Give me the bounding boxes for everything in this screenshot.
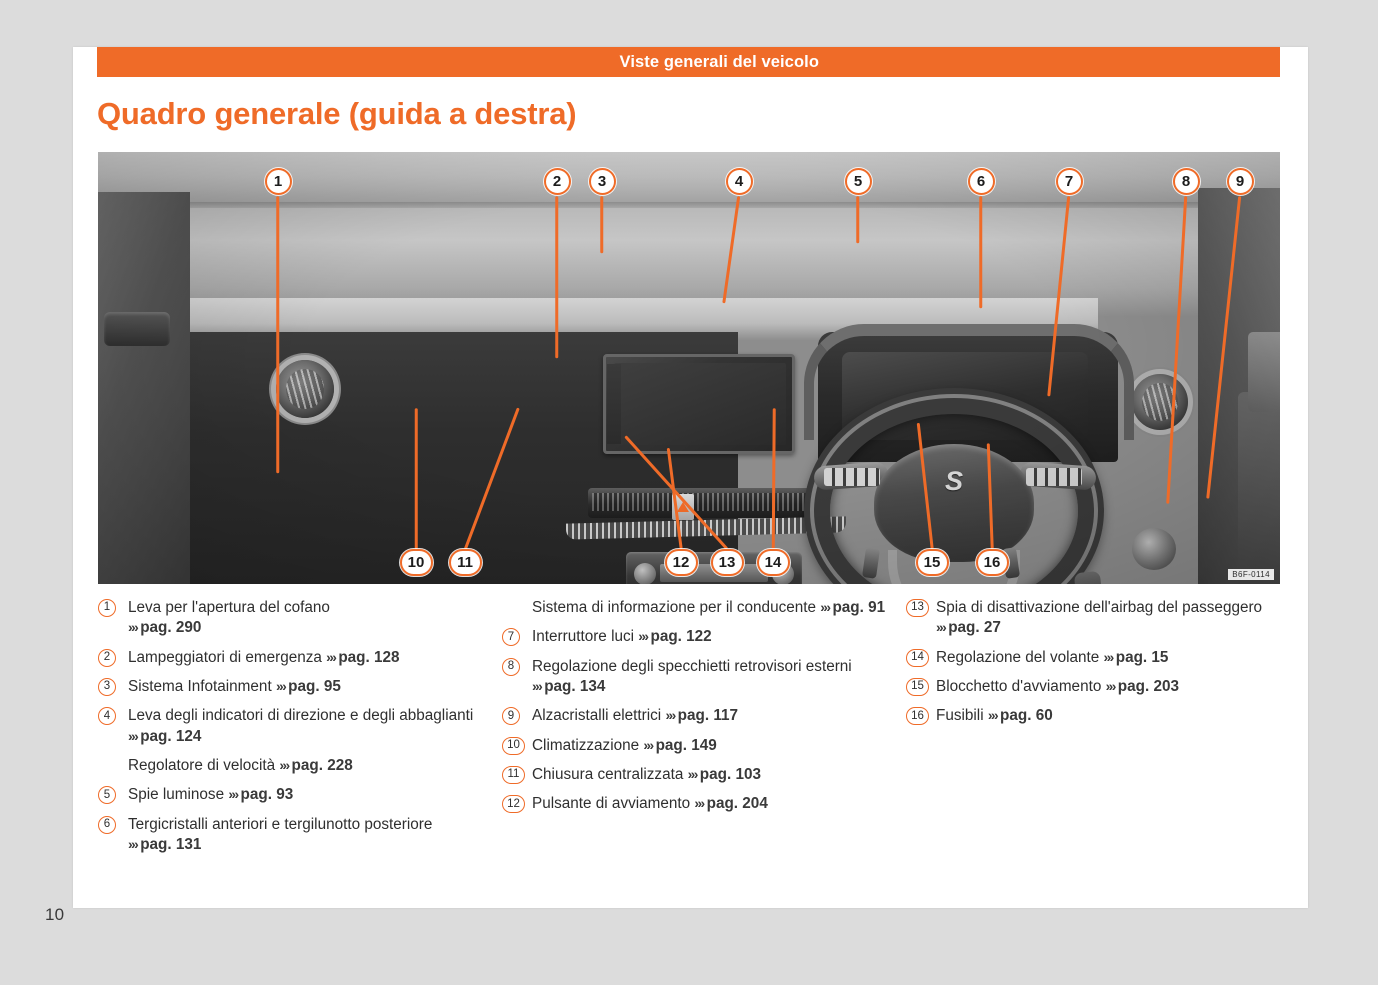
legend-text: Climatizzazione (532, 737, 643, 754)
figure-code: B6F-0114 (1228, 569, 1274, 580)
photo-vignette (98, 152, 1280, 584)
legend-text: Fusibili (936, 707, 988, 724)
callout-6[interactable]: 6 (968, 168, 995, 195)
callout-5[interactable]: 5 (845, 168, 872, 195)
legend-text: Tergicristalli anteriori e tergilunotto … (128, 816, 432, 833)
callout-13[interactable]: 13 (711, 549, 744, 576)
legend-item-13: 13Spia di disattivazione dell'airbag del… (906, 598, 1280, 639)
legend-text: Leva degli indicatori di direzione e deg… (128, 707, 473, 724)
dashboard-figure: S B6F-0114 12345 (98, 152, 1280, 584)
cross-reference-arrows-icon: ››› (532, 678, 544, 694)
legend-text: Interruttore luci (532, 628, 638, 645)
cross-reference-arrows-icon: ››› (820, 599, 832, 615)
callout-10[interactable]: 10 (400, 549, 433, 576)
legend-number-7: 7 (502, 628, 520, 646)
cross-reference-page[interactable]: pag. 131 (140, 836, 201, 853)
cross-reference-page[interactable]: pag. 203 (1118, 678, 1179, 695)
legend-number-5: 5 (98, 786, 116, 804)
legend-text: Spia di disattivazione dell'airbag del p… (936, 599, 1262, 616)
cross-reference-arrows-icon: ››› (643, 737, 655, 753)
legend-text: Leva per l'apertura del cofano (128, 599, 330, 616)
cross-reference-arrows-icon: ››› (279, 757, 291, 773)
cross-reference-page[interactable]: pag. 91 (832, 599, 885, 616)
legend-item-9: 9Alzacristalli elettrici ›››pag. 117 (502, 706, 892, 726)
callout-3[interactable]: 3 (589, 168, 616, 195)
cross-reference-arrows-icon: ››› (638, 628, 650, 644)
legend-number-13: 13 (906, 599, 929, 617)
legend-number-15: 15 (906, 678, 929, 696)
legend-item-7: 7Interruttore luci ›››pag. 122 (502, 627, 892, 647)
legend-item-11: 11Chiusura centralizzata ›››pag. 103 (502, 765, 892, 785)
callout-4[interactable]: 4 (726, 168, 753, 195)
manual-page: 10 Viste generali del veicolo Quadro gen… (0, 0, 1378, 985)
cross-reference-arrows-icon: ››› (1106, 678, 1118, 694)
legend-text: Regolatore di velocità (128, 757, 279, 774)
cross-reference-page[interactable]: pag. 103 (700, 766, 761, 783)
leader-line-5 (857, 196, 860, 243)
cross-reference-page[interactable]: pag. 124 (140, 728, 201, 745)
cross-reference-page[interactable]: pag. 122 (650, 628, 711, 645)
cross-reference-page[interactable]: pag. 128 (338, 649, 399, 666)
cross-reference-arrows-icon: ››› (276, 678, 288, 694)
cross-reference-page[interactable]: pag. 15 (1116, 649, 1169, 666)
legend-number-1: 1 (98, 599, 116, 617)
leader-line-6 (980, 196, 983, 308)
legend-number-8: 8 (502, 658, 520, 676)
legend-item-continued: Sistema di informazione per il conducent… (502, 598, 892, 618)
callout-9[interactable]: 9 (1227, 168, 1254, 195)
legend-number-6: 6 (98, 816, 116, 834)
legend-text: Pulsante di avviamento (532, 795, 694, 812)
legend-number-10: 10 (502, 737, 525, 755)
legend-text: Sistema di informazione per il conducent… (532, 599, 820, 616)
cross-reference-page[interactable]: pag. 95 (288, 678, 341, 695)
callout-12[interactable]: 12 (665, 549, 698, 576)
leader-line-3 (601, 196, 604, 253)
legend-item-4: 4Leva degli indicatori di direzione e de… (98, 706, 488, 747)
callout-2[interactable]: 2 (544, 168, 571, 195)
leader-line-10 (415, 408, 418, 549)
page-title: Quadro generale (guida a destra) (97, 96, 576, 132)
callout-14[interactable]: 14 (757, 549, 790, 576)
legend-item-continued: Regolatore di velocità ›››pag. 228 (98, 756, 488, 776)
cross-reference-page[interactable]: pag. 228 (292, 757, 353, 774)
legend-item-14: 14Regolazione del volante ›››pag. 15 (906, 648, 1280, 668)
running-head-title: Viste generali del veicolo (620, 47, 819, 77)
cross-reference-page[interactable]: pag. 149 (656, 737, 717, 754)
legend-item-15: 15Blocchetto d'avviamento ›››pag. 203 (906, 677, 1280, 697)
cross-reference-page[interactable]: pag. 93 (241, 786, 294, 803)
cross-reference-arrows-icon: ››› (688, 766, 700, 782)
cross-reference-arrows-icon: ››› (128, 728, 140, 744)
legend-item-16: 16Fusibili ›››pag. 60 (906, 706, 1280, 726)
page-number: 10 (45, 905, 64, 925)
legend-column-3: 13Spia di disattivazione dell'airbag del… (906, 598, 1280, 736)
legend-text: Regolazione degli specchietti retrovisor… (532, 658, 852, 675)
cross-reference-arrows-icon: ››› (1104, 649, 1116, 665)
cross-reference-page[interactable]: pag. 27 (948, 619, 1001, 636)
legend-text: Spie luminose (128, 786, 228, 803)
cross-reference-page[interactable]: pag. 60 (1000, 707, 1053, 724)
cross-reference-page[interactable]: pag. 134 (544, 678, 605, 695)
legend-number-14: 14 (906, 649, 929, 667)
leader-line-1 (277, 196, 280, 473)
legend-item-10: 10Climatizzazione ›››pag. 149 (502, 736, 892, 756)
legend-number-9: 9 (502, 707, 520, 725)
legend-text: Regolazione del volante (936, 649, 1104, 666)
callout-7[interactable]: 7 (1056, 168, 1083, 195)
callout-11[interactable]: 11 (449, 549, 482, 576)
legend-text: Blocchetto d'avviamento (936, 678, 1106, 695)
legend-item-1: 1Leva per l'apertura del cofano ›››pag. … (98, 598, 488, 639)
legend-number-2: 2 (98, 649, 116, 667)
legend-item-6: 6Tergicristalli anteriori e tergilunotto… (98, 815, 488, 856)
legend-text: Sistema Infotainment (128, 678, 276, 695)
cross-reference-arrows-icon: ››› (128, 619, 140, 635)
legend-number-12: 12 (502, 795, 525, 813)
legend-number-16: 16 (906, 707, 929, 725)
figure-legend: 1Leva per l'apertura del cofano ›››pag. … (98, 598, 1280, 888)
cross-reference-arrows-icon: ››› (665, 707, 677, 723)
legend-number-3: 3 (98, 678, 116, 696)
legend-column-2: Sistema di informazione per il conducent… (502, 598, 892, 824)
dashboard-photo: S (98, 152, 1280, 584)
legend-text: Alzacristalli elettrici (532, 707, 665, 724)
cross-reference-arrows-icon: ››› (694, 795, 706, 811)
callout-1[interactable]: 1 (265, 168, 292, 195)
leader-line-2 (556, 196, 559, 358)
cross-reference-arrows-icon: ››› (936, 619, 948, 635)
callout-15[interactable]: 15 (916, 549, 949, 576)
legend-item-5: 5Spie luminose ›››pag. 93 (98, 785, 488, 805)
callout-8[interactable]: 8 (1173, 168, 1200, 195)
cross-reference-arrows-icon: ››› (988, 707, 1000, 723)
legend-number-11: 11 (502, 766, 525, 784)
legend-item-2: 2Lampeggiatori di emergenza ›››pag. 128 (98, 648, 488, 668)
legend-item-12: 12Pulsante di avviamento ›››pag. 204 (502, 794, 892, 814)
cross-reference-page[interactable]: pag. 204 (707, 795, 768, 812)
legend-text: Lampeggiatori di emergenza (128, 649, 326, 666)
cross-reference-arrows-icon: ››› (128, 836, 140, 852)
cross-reference-page[interactable]: pag. 117 (678, 707, 738, 724)
callout-16[interactable]: 16 (976, 549, 1009, 576)
legend-column-1: 1Leva per l'apertura del cofano ›››pag. … (98, 598, 488, 864)
cross-reference-arrows-icon: ››› (228, 786, 240, 802)
cross-reference-arrows-icon: ››› (326, 649, 338, 665)
running-head-band: Viste generali del veicolo (97, 47, 1280, 77)
cross-reference-page[interactable]: pag. 290 (140, 619, 201, 636)
legend-item-3: 3Sistema Infotainment ›››pag. 95 (98, 677, 488, 697)
legend-text: Chiusura centralizzata (532, 766, 688, 783)
legend-item-8: 8Regolazione degli specchietti retroviso… (502, 657, 892, 698)
legend-number-4: 4 (98, 707, 116, 725)
